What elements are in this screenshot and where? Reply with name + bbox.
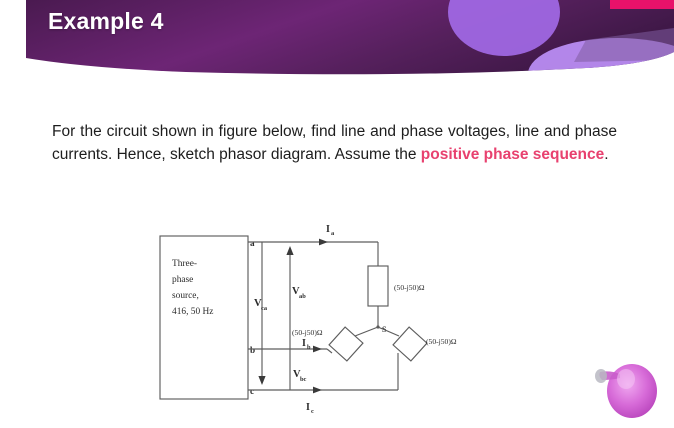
impedance-left-lead-top bbox=[355, 327, 378, 336]
impedance-right-label: (50-j50)Ω bbox=[426, 337, 457, 346]
source-label-line3: source, bbox=[172, 291, 199, 301]
v-ab-subscript: ab bbox=[299, 293, 306, 300]
circuit-schematic-svg: Three- phase source, 416, 50 Hz a b c (5… bbox=[150, 222, 520, 422]
v-ab-arrowhead bbox=[286, 246, 293, 255]
i-c-arrowhead bbox=[313, 387, 322, 394]
question-line-3-prefix: diagram. Assume the bbox=[271, 146, 421, 163]
terminal-label-b: b bbox=[250, 345, 255, 355]
impedance-top-box bbox=[368, 266, 388, 306]
impedance-left-diamond bbox=[329, 327, 363, 361]
positive-phase-sequence-highlight: positive phase sequence bbox=[421, 146, 605, 163]
source-label-line2: phase bbox=[172, 275, 193, 285]
impedance-left-lead-bottom bbox=[327, 349, 332, 353]
slide-header-banner: Example 4 bbox=[26, 0, 674, 78]
i-b-arrowhead bbox=[313, 346, 322, 353]
i-b-label: I bbox=[302, 338, 306, 349]
v-ca-subscript: ca bbox=[261, 305, 268, 312]
light-bulb-icon bbox=[588, 346, 668, 423]
i-a-arrowhead bbox=[319, 239, 328, 246]
circuit-diagram: Three- phase source, 416, 50 Hz a b c (5… bbox=[150, 222, 520, 422]
header-pink-accent-bar bbox=[610, 0, 674, 9]
source-label-line4: 416, 50 Hz bbox=[172, 307, 213, 317]
terminal-label-a: a bbox=[250, 238, 255, 248]
i-c-subscript: c bbox=[311, 408, 314, 415]
source-label-line1: Three- bbox=[172, 259, 197, 269]
impedance-top-label: (50-j50)Ω bbox=[394, 283, 425, 292]
i-a-label: I bbox=[326, 224, 330, 235]
v-bc-subscript: bc bbox=[300, 376, 307, 383]
question-paragraph: For the circuit shown in figure below, f… bbox=[52, 121, 617, 167]
terminal-label-c: c bbox=[250, 386, 254, 396]
i-a-subscript: a bbox=[331, 230, 335, 237]
question-line-1: For the circuit shown in figure below, f… bbox=[52, 123, 443, 140]
impedance-left-label: (50-j50)Ω bbox=[292, 328, 323, 337]
question-line-3-suffix: . bbox=[604, 146, 608, 163]
light-bulb-graphic bbox=[588, 346, 668, 423]
v-ca-arrowhead bbox=[258, 376, 265, 385]
i-c-label: I bbox=[306, 402, 310, 413]
page-title: Example 4 bbox=[48, 8, 164, 35]
i-b-subscript: b bbox=[307, 344, 311, 351]
